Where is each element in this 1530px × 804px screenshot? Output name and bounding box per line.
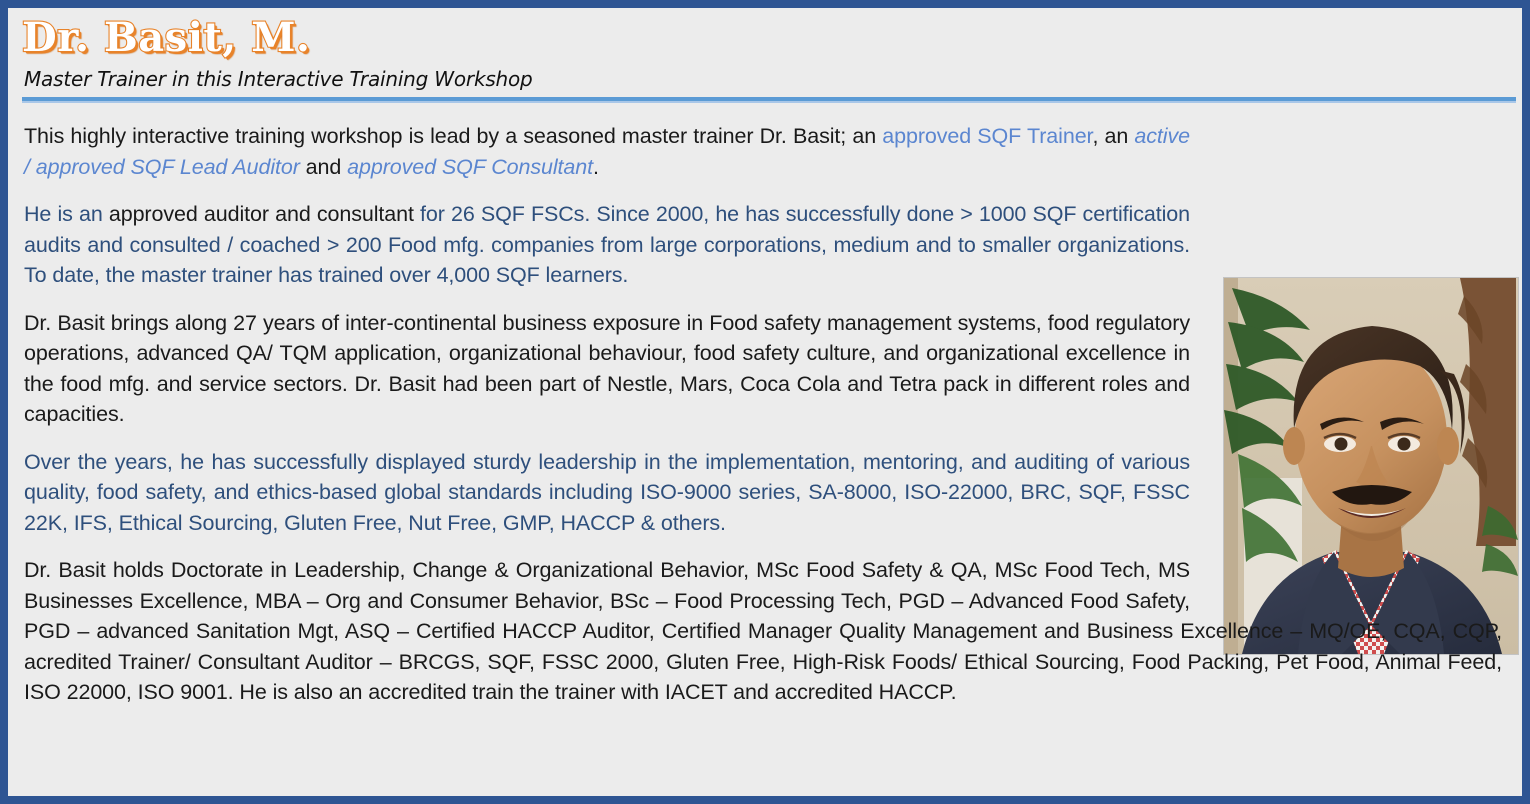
run-intro-1: This highly interactive training worksho… — [24, 124, 882, 148]
page-subtitle: Master Trainer in this Interactive Train… — [24, 66, 1508, 92]
run-intro-period: . — [593, 155, 599, 179]
run-sqf-consultant: approved SQF Consultant — [347, 155, 593, 179]
run-approved-sqf-trainer: approved SQF Trainer — [882, 124, 1092, 148]
run-intro-2: , an — [1092, 124, 1134, 148]
run-experience: Dr. Basit brings along 27 years of inter… — [24, 311, 1190, 427]
photo-wrap-spacer — [1190, 209, 1502, 601]
paragraph-intro: This highly interactive training worksho… — [24, 121, 1502, 182]
run-cred-1: He is an — [24, 202, 109, 226]
run-intro-3: and — [300, 155, 347, 179]
biography-body: This highly interactive training worksho… — [8, 103, 1522, 708]
page-title: Dr. Basit, M. — [22, 14, 310, 62]
run-standards: Over the years, he has successfully disp… — [24, 450, 1190, 535]
header: Dr. Basit, M. Master Trainer in this Int… — [8, 8, 1522, 92]
run-approved-auditor-consultant: approved auditor and consultant — [109, 202, 414, 226]
slide-container: Dr. Basit, M. Master Trainer in this Int… — [0, 0, 1530, 804]
